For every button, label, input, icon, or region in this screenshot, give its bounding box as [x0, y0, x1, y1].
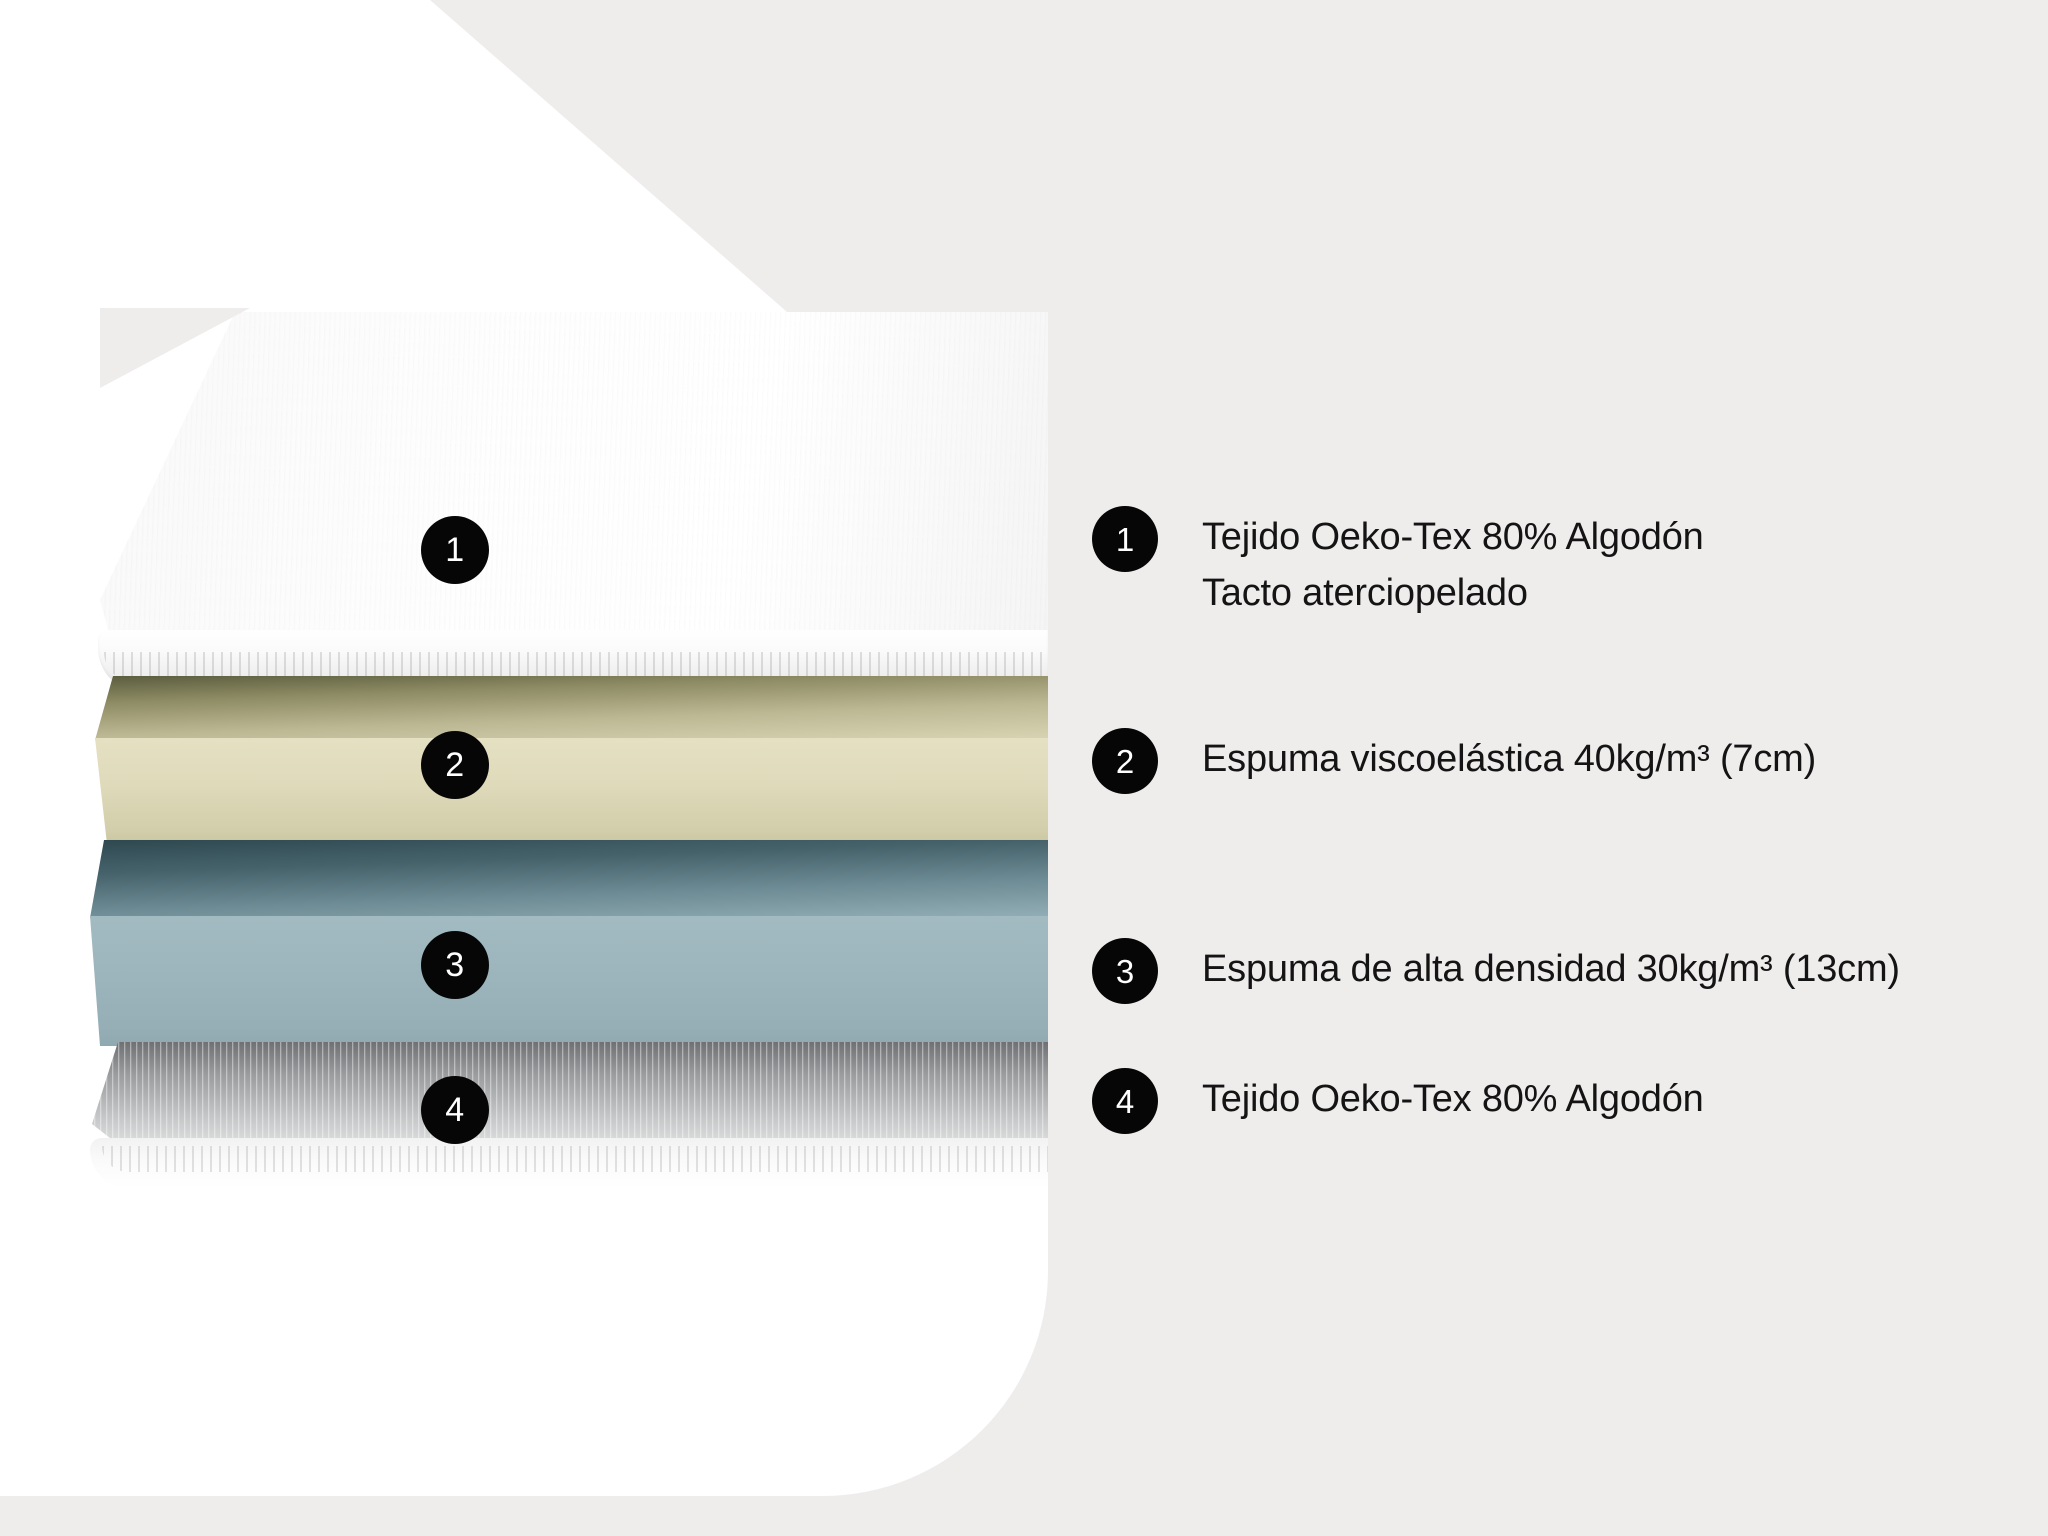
legend-badge-1: 1 [1092, 506, 1158, 572]
mattress-badge-4: 4 [421, 1076, 489, 1144]
legend-label-1: Tejido Oeko-Tex 80% Algodón Tacto aterci… [1202, 506, 1704, 622]
legend-badge-2: 2 [1092, 728, 1158, 794]
legend-item-3: 3 Espuma de alta densidad 30kg/m³ (13cm) [1092, 938, 1900, 1004]
mattress-layer-illustration [0, 300, 1048, 1190]
layer-4-welt-stitching [102, 1146, 1048, 1172]
legend-label-3: Espuma de alta densidad 30kg/m³ (13cm) [1202, 938, 1900, 998]
legend-label-1-line-1: Tejido Oeko-Tex 80% Algodón [1202, 516, 1704, 558]
mattress-layer-4-bottom-cover [82, 1042, 1048, 1190]
legend-item-4: 4 Tejido Oeko-Tex 80% Algodón [1092, 1068, 1704, 1134]
legend-label-3-line-1: Espuma de alta densidad 30kg/m³ (13cm) [1202, 948, 1900, 990]
layer-2-top-bevel [95, 676, 1048, 740]
legend-badge-3: 3 [1092, 938, 1158, 1004]
layer-3-top-bevel [90, 840, 1048, 918]
mattress-badge-2: 2 [421, 731, 489, 799]
legend-badge-4: 4 [1092, 1068, 1158, 1134]
legend-item-2: 2 Espuma viscoelástica 40kg/m³ (7cm) [1092, 728, 1816, 794]
legend-label-4-line-1: Tejido Oeko-Tex 80% Algodón [1202, 1078, 1704, 1120]
mattress-badge-1: 1 [421, 516, 489, 584]
infographic-canvas: 1 2 3 4 1 Tejido Oeko-Tex 80% Algodón Ta… [0, 0, 2048, 1536]
mattress-layer-1-top-cover [0, 300, 1048, 692]
legend-label-2: Espuma viscoelástica 40kg/m³ (7cm) [1202, 728, 1816, 788]
legend-label-4: Tejido Oeko-Tex 80% Algodón [1202, 1068, 1704, 1128]
legend-label-1-line-2: Tacto aterciopelado [1202, 566, 1704, 622]
mattress-badge-3: 3 [421, 931, 489, 999]
legend-list: 1 Tejido Oeko-Tex 80% Algodón Tacto ater… [1092, 0, 1992, 1536]
layer-3-front-face [90, 916, 1048, 1046]
layer-2-front-face [95, 738, 1048, 844]
mattress-layer-3-high-density-foam [90, 840, 1048, 1046]
mattress-layer-2-memory-foam [95, 676, 1048, 844]
legend-item-1: 1 Tejido Oeko-Tex 80% Algodón Tacto ater… [1092, 506, 1704, 622]
legend-label-2-line-1: Espuma viscoelástica 40kg/m³ (7cm) [1202, 738, 1816, 780]
